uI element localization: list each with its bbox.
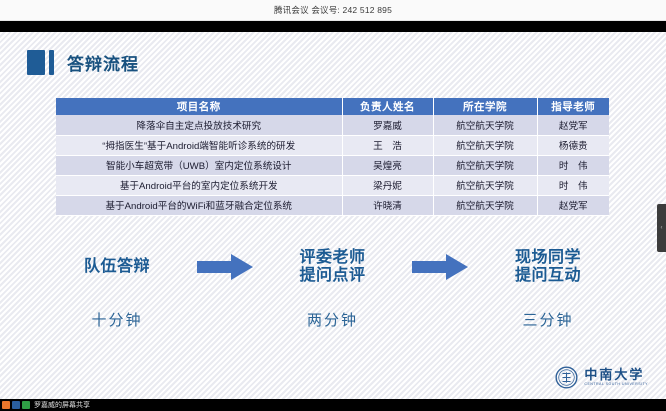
university-name-en: CENTRAL SOUTH UNIVERSITY [584,383,648,387]
arrow-cell-1 [194,254,256,280]
cell-project-name: 基于Android平台的WiFi和蓝牙融合定位系统 [56,195,342,215]
duration-step-2: 两分钟 [272,309,394,330]
projects-table-wrapper: 项目名称 负责人姓名 所在学院 指导老师 降落伞自主定点投放技术研究 罗嘉威 航… [56,98,609,216]
column-header-college: 所在学院 [433,98,537,115]
flow-step-1-line1: 队伍答辩 [56,258,178,276]
cell-leader: 吴煌亮 [342,155,433,175]
cell-college: 航空航天学院 [433,175,537,195]
slide-title-group: 答辩流程 [27,48,139,76]
duration-step-3: 三分钟 [487,309,609,330]
cell-leader: 罗嘉威 [342,115,433,135]
duration-step-1: 十分钟 [56,309,178,330]
cell-advisor: 时 伟 [537,175,609,195]
cell-advisor: 赵党军 [537,115,609,135]
screen-share-border-top [0,21,666,32]
app-icon-blue[interactable] [12,401,20,409]
cell-project-name: 降落伞自主定点投放技术研究 [56,115,342,135]
table-row: 降落伞自主定点投放技术研究 罗嘉威 航空航天学院 赵党军 [56,115,609,135]
arrow-right-icon [197,254,253,280]
cell-college: 航空航天学院 [433,195,537,215]
title-bar-decoration [49,50,54,75]
university-name-cn: 中南大学 [584,368,648,381]
sidebar-collapse-tab[interactable]: ‹ [657,204,666,252]
table-header-row: 项目名称 负责人姓名 所在学院 指导老师 [56,98,609,115]
cell-college: 航空航天学院 [433,155,537,175]
flow-step-1: 队伍答辩 [56,258,178,276]
cell-leader: 许晓清 [342,195,433,215]
app-icon-green[interactable] [22,401,30,409]
flow-step-3-line2: 提问互动 [487,267,609,285]
table-row: 基于Android平台的室内定位系统开发 梁丹妮 航空航天学院 时 伟 [56,175,609,195]
column-header-project-name: 项目名称 [56,98,342,115]
taskbar: 罗嘉威的屏幕共享 [0,399,666,411]
cell-project-name: 智能小车超宽带（UWB）室内定位系统设计 [56,155,342,175]
arrow-cell-2 [409,254,471,280]
table-row: 基于Android平台的WiFi和蓝牙融合定位系统 许晓清 航空航天学院 赵党军 [56,195,609,215]
chevron-left-icon: ‹ [661,225,663,231]
flow-step-2: 评委老师 提问点评 [272,249,394,285]
presentation-slide: 答辩流程 项目名称 负责人姓名 所在学院 指导老师 [0,32,666,399]
cell-project-name: 基于Android平台的室内定位系统开发 [56,175,342,195]
table-row: 智能小车超宽带（UWB）室内定位系统设计 吴煌亮 航空航天学院 时 伟 [56,155,609,175]
app-icon-orange[interactable] [2,401,10,409]
flow-step-3-line1: 现场同学 [487,249,609,267]
flow-step-2-line2: 提问点评 [272,267,394,285]
screen: 腾讯会议 会议号: 242 512 895 答辩流程 项目名称 负责人姓名 [0,0,666,411]
cell-project-name: “拇指医生”基于Android端智能听诊系统的研发 [56,135,342,155]
column-header-leader: 负责人姓名 [342,98,433,115]
flow-step-2-line1: 评委老师 [272,249,394,267]
cell-advisor: 赵党军 [537,195,609,215]
university-seal-icon [555,366,578,389]
meeting-info-bar: 腾讯会议 会议号: 242 512 895 [0,0,666,21]
cell-leader: 梁丹妮 [342,175,433,195]
meeting-number-label: 腾讯会议 会议号: 242 512 895 [274,4,392,16]
title-square-decoration [27,50,45,75]
cell-advisor: 杨德贵 [537,135,609,155]
university-logo-text: 中南大学 CENTRAL SOUTH UNIVERSITY [584,368,648,387]
duration-labels: 十分钟 两分钟 三分钟 [56,309,609,330]
cell-college: 航空航天学院 [433,135,537,155]
projects-table: 项目名称 负责人姓名 所在学院 指导老师 降落伞自主定点投放技术研究 罗嘉威 航… [56,98,609,216]
university-logo: 中南大学 CENTRAL SOUTH UNIVERSITY [555,366,648,389]
cell-college: 航空航天学院 [433,115,537,135]
page-title: 答辩流程 [67,50,139,75]
flow-step-3: 现场同学 提问互动 [487,249,609,285]
process-flow-diagram: 队伍答辩 评委老师 提问点评 现场同学 提问互动 [56,237,609,297]
column-header-advisor: 指导老师 [537,98,609,115]
table-row: “拇指医生”基于Android端智能听诊系统的研发 王 浩 航空航天学院 杨德贵 [56,135,609,155]
cell-advisor: 时 伟 [537,155,609,175]
arrow-right-icon [412,254,468,280]
cell-leader: 王 浩 [342,135,433,155]
taskbar-share-label: 罗嘉威的屏幕共享 [34,400,90,410]
